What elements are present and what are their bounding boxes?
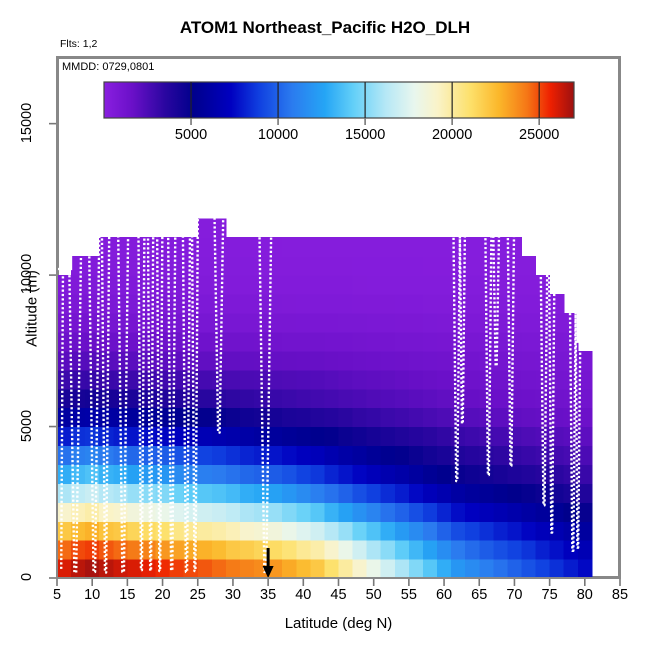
- colorbar-tick-label: 25000: [504, 127, 574, 143]
- x-tick-label: 45: [319, 587, 359, 603]
- y-tick-label: 10000: [19, 244, 35, 304]
- x-tick-label: 5: [37, 587, 77, 603]
- x-tick-label: 20: [143, 587, 183, 603]
- x-tick-label: 70: [494, 587, 534, 603]
- y-tick-label: 5000: [19, 396, 35, 456]
- x-tick-label: 50: [354, 587, 394, 603]
- colorbar-tick-label: 10000: [243, 127, 313, 143]
- x-tick-label: 15: [107, 587, 147, 603]
- x-tick-label: 30: [213, 587, 253, 603]
- plot-canvas: [0, 0, 650, 650]
- x-tick-label: 25: [178, 587, 218, 603]
- colorbar: [104, 82, 574, 125]
- x-tick-label: 55: [389, 587, 429, 603]
- x-tick-label: 85: [600, 587, 640, 603]
- y-tick-label: 15000: [19, 93, 35, 153]
- x-tick-label: 10: [72, 587, 112, 603]
- x-tick-label: 80: [565, 587, 605, 603]
- plot-root: ATOM1 Northeast_Pacific H2O_DLH Flts: 1,…: [0, 0, 650, 650]
- x-axis-label: Latitude (deg N): [57, 615, 620, 632]
- x-tick-label: 75: [530, 587, 570, 603]
- x-tick-label: 35: [248, 587, 288, 603]
- colorbar-tick-label: 5000: [156, 127, 226, 143]
- x-tick-label: 40: [283, 587, 323, 603]
- x-tick-label: 60: [424, 587, 464, 603]
- y-tick-label: 0: [19, 547, 35, 607]
- colorbar-tick-label: 20000: [417, 127, 487, 143]
- colorbar-tick-label: 15000: [330, 127, 400, 143]
- x-tick-label: 65: [459, 587, 499, 603]
